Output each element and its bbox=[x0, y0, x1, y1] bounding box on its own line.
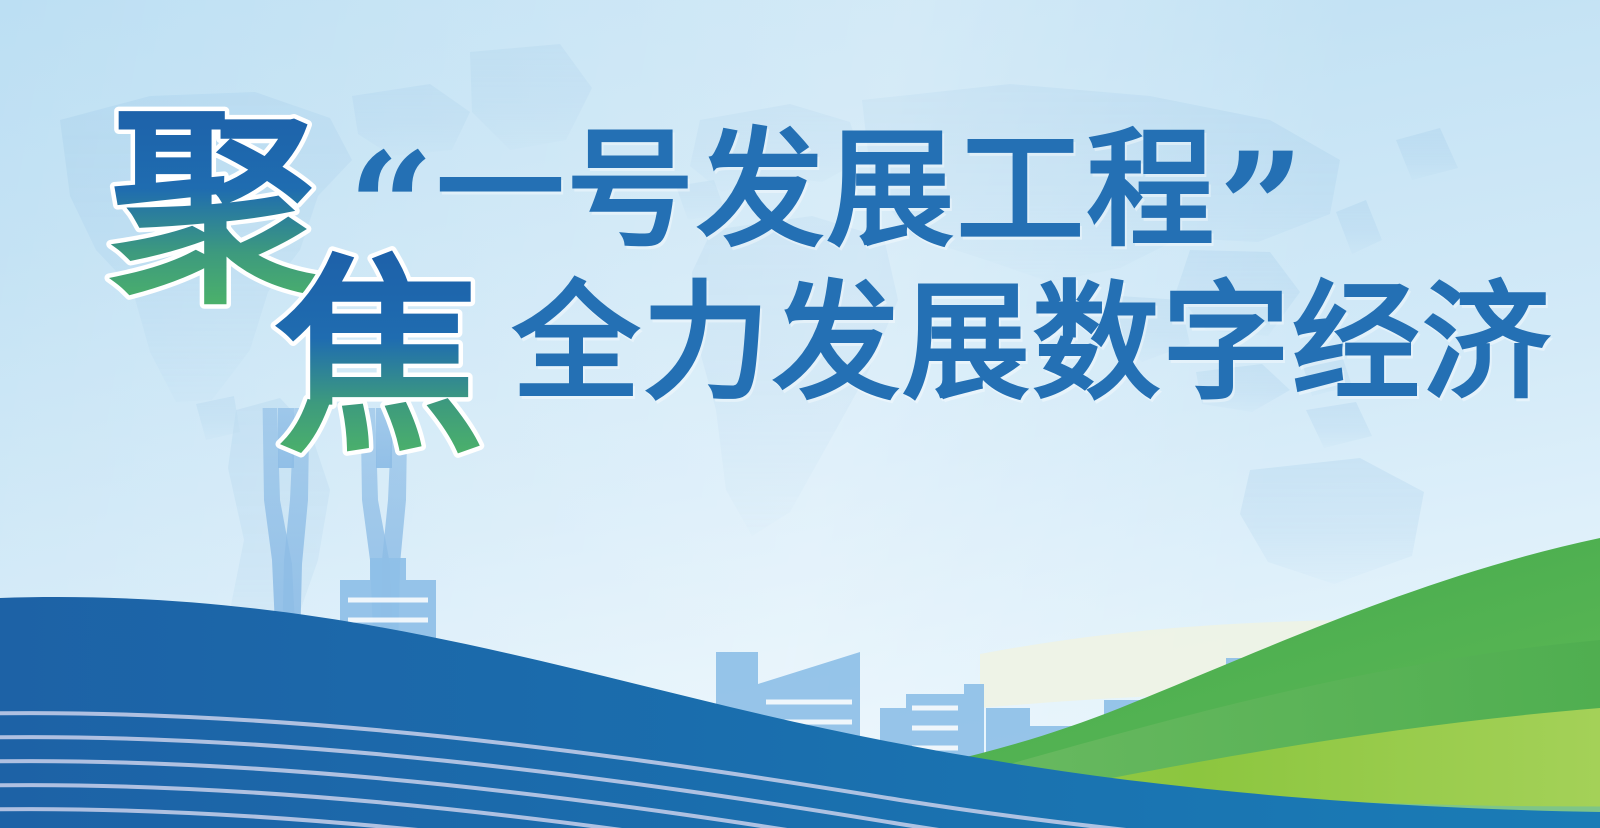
calligraphy-ju-glyph: 聚 bbox=[109, 85, 322, 332]
scenery-artwork bbox=[0, 408, 1600, 828]
quote-open-mark: “ bbox=[348, 145, 434, 271]
poster-banner: 聚 焦 “ 一号发展工程 ” 全力发展数字经济 bbox=[0, 0, 1600, 828]
calligraphy-char-ju: 聚 bbox=[104, 86, 334, 336]
quote-close-mark: ” bbox=[1218, 145, 1304, 271]
headline-block: “ 一号发展工程 ” 全力发展数字经济 bbox=[336, 126, 1516, 409]
headline-line-2-text: 全力发展数字经济 bbox=[512, 279, 1552, 410]
headline-line-1: “ 一号发展工程 ” bbox=[348, 126, 1516, 257]
headline-line-1-text: 一号发展工程 bbox=[436, 126, 1216, 257]
headline-line-2: 全力发展数字经济 bbox=[512, 279, 1516, 410]
